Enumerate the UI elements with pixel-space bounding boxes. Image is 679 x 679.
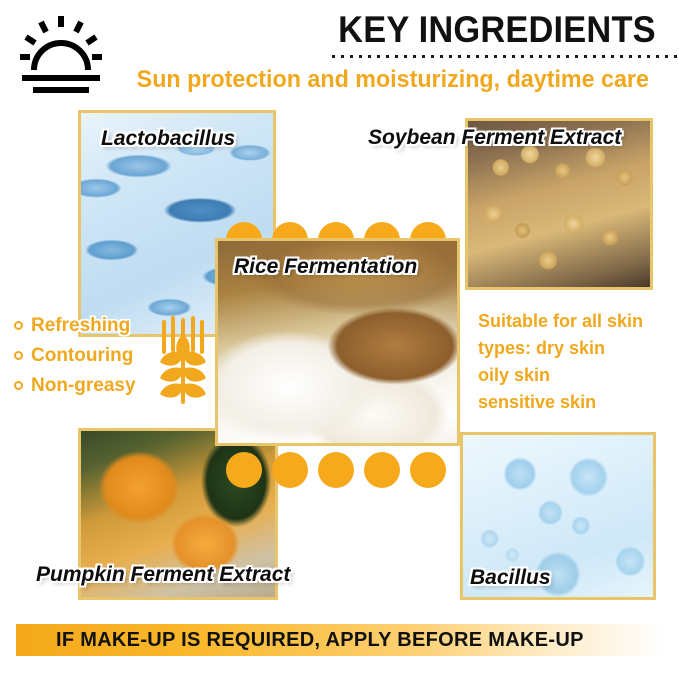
banner-text: IF MAKE-UP IS REQUIRED, APPLY BEFORE MAK…	[56, 629, 584, 652]
bullet-circle-icon	[14, 381, 23, 390]
benefit-label: Contouring	[31, 344, 133, 368]
scallop-dot	[410, 452, 446, 488]
scallop-dot	[272, 452, 308, 488]
benefit-label: Non-greasy	[31, 374, 136, 398]
benefits-list: Refreshing Contouring Non-greasy	[14, 312, 164, 402]
skin-types-line: oily skin	[478, 362, 678, 389]
scallop-dot	[364, 452, 400, 488]
ingredient-label-lactobacillus: Lactobacillus	[101, 127, 235, 151]
page-subtitle: Sun protection and moisturizing, daytime…	[128, 64, 658, 96]
scallop-dot	[318, 452, 354, 488]
skin-types-line: types: dry skin	[478, 335, 678, 362]
skin-types-text: Suitable for all skin types: dry skin oi…	[478, 308, 678, 416]
title-dotted-divider	[332, 55, 679, 58]
bullet-circle-icon	[14, 351, 23, 360]
skin-types-line: sensitive skin	[478, 389, 678, 416]
wheat-icon	[152, 316, 214, 408]
skin-types-line: Suitable for all skin	[478, 308, 678, 335]
benefit-item-contouring: Contouring	[14, 342, 164, 369]
ingredient-label-pumpkin: Pumpkin Ferment Extract	[36, 563, 290, 587]
bullet-circle-icon	[14, 321, 23, 330]
ingredient-label-bacillus: Bacillus	[470, 566, 551, 590]
benefit-item-non-greasy: Non-greasy	[14, 372, 164, 399]
page-title: KEY INGREDIENTS	[334, 8, 660, 52]
benefit-label: Refreshing	[31, 314, 130, 338]
scallop-dot	[226, 452, 262, 488]
infographic-root: KEY INGREDIENTS Sun protection and moist…	[0, 0, 679, 679]
bottom-banner: IF MAKE-UP IS REQUIRED, APPLY BEFORE MAK…	[16, 624, 663, 656]
ingredient-label-soybean: Soybean Ferment Extract	[368, 126, 621, 150]
scallop-decoration-bottom	[226, 452, 446, 488]
sun-icon	[14, 12, 108, 96]
benefit-item-refreshing: Refreshing	[14, 312, 164, 339]
ingredient-label-rice: Rice Fermentation	[234, 255, 417, 279]
